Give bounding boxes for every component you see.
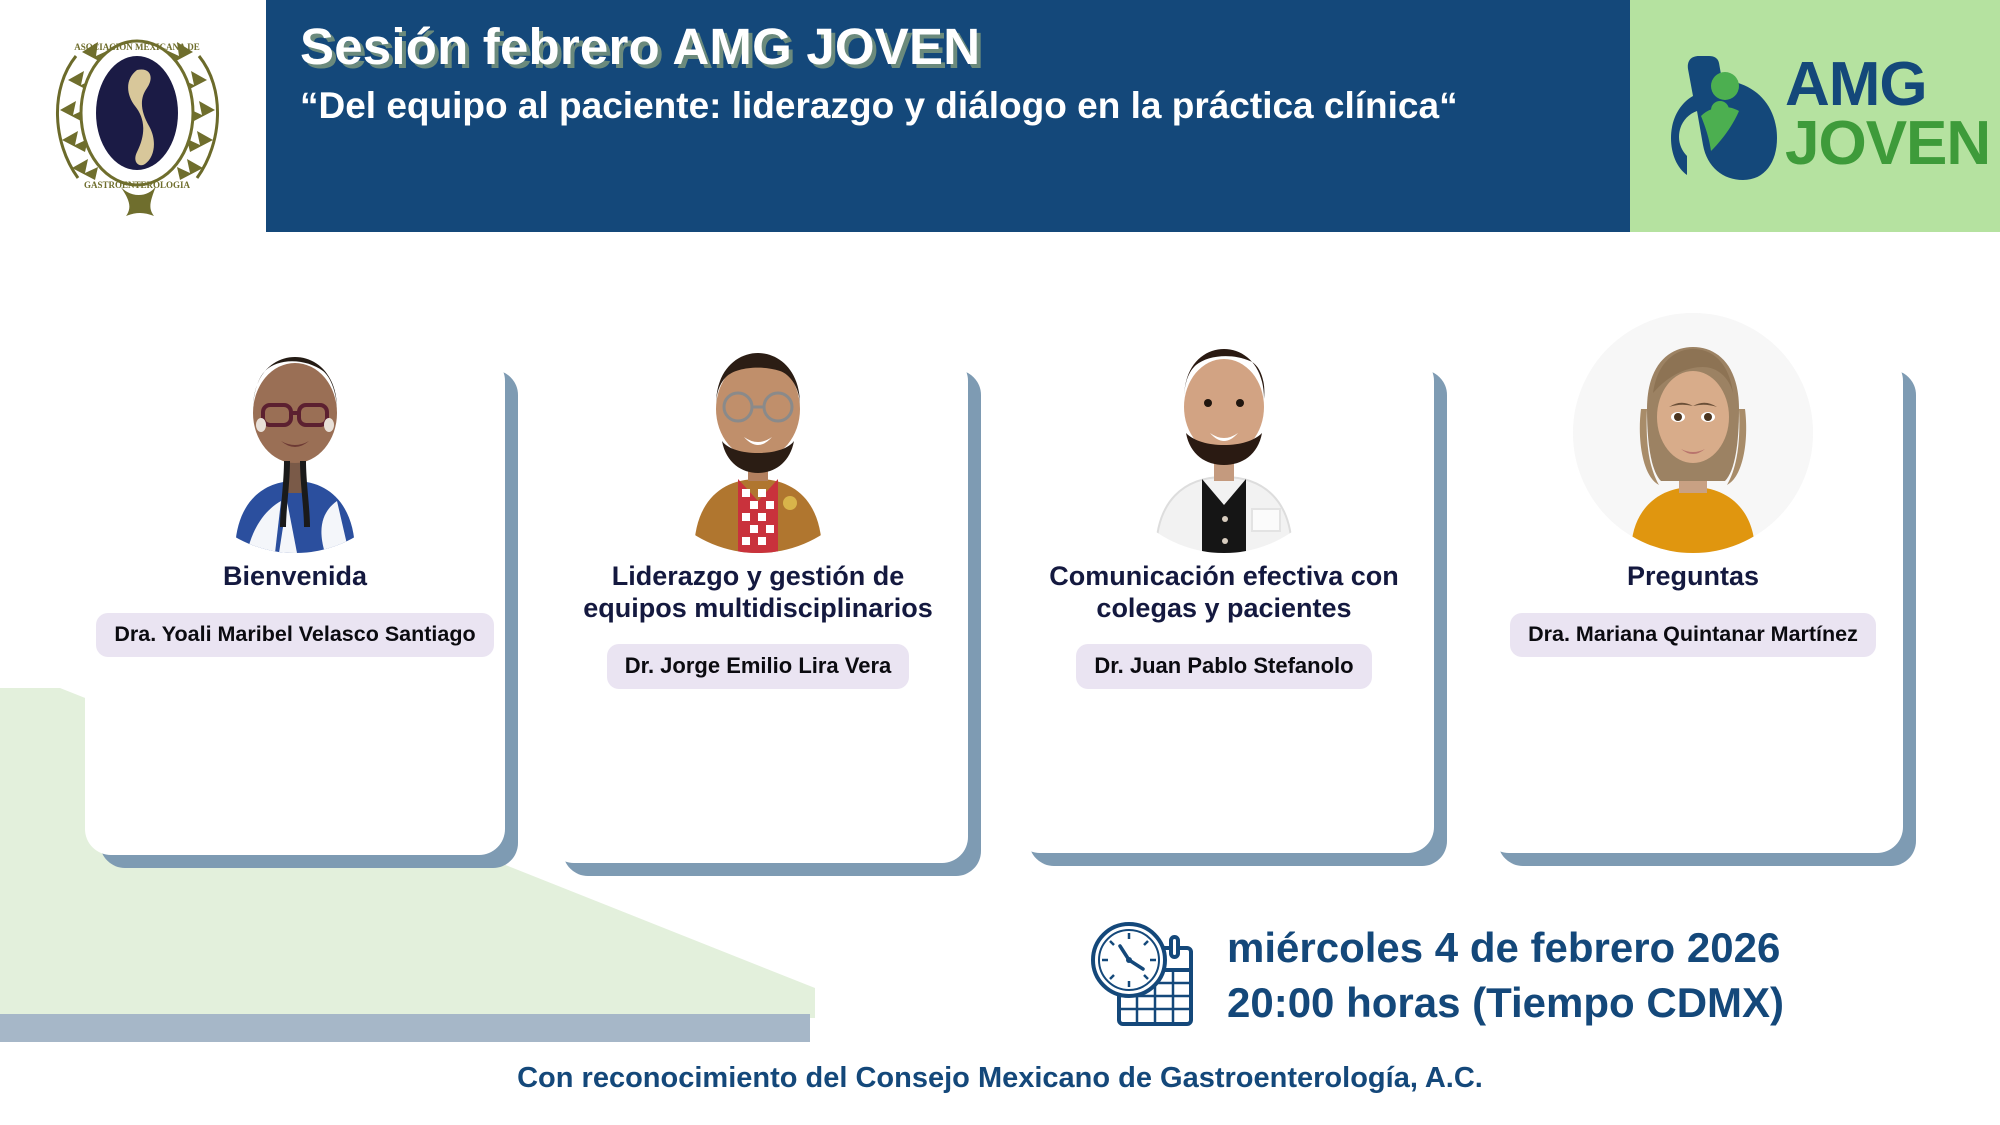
speaker-photo [1069, 313, 1379, 553]
amg-joven-logo: AMG JOVEN [1665, 22, 1985, 207]
speaker-photo [603, 313, 913, 553]
amg-crest-icon: ASOCIACION MEXICANA DE GASTROENTEROLOGIA [30, 10, 245, 222]
avatar [175, 313, 415, 553]
speaker-photo [1538, 313, 1848, 553]
avatar [638, 313, 878, 553]
amg-wordmark-line1: AMG [1785, 56, 1990, 114]
speaker-name-badge: Dra. Mariana Quintanar Martínez [1510, 613, 1876, 657]
clock-calendar-icon [1085, 920, 1203, 1032]
speaker-card[interactable]: Bienvenida Dra. Yoali Maribel Velasco Sa… [85, 355, 505, 855]
header-text-block: Sesión febrero AMG JOVEN “Del equipo al … [300, 18, 1590, 128]
decorative-blue-gray-bar [0, 1014, 810, 1042]
page-title: Sesión febrero AMG JOVEN [300, 18, 1590, 77]
svg-text:GASTROENTEROLOGIA: GASTROENTEROLOGIA [84, 180, 191, 190]
speaker-name-badge: Dr. Jorge Emilio Lira Vera [607, 644, 910, 689]
speaker-role: Liderazgo y gestión de equipos multidisc… [548, 561, 968, 624]
schedule-date: miércoles 4 de febrero 2026 [1227, 924, 1780, 971]
page-subtitle: “Del equipo al paciente: liderazgo y diá… [300, 83, 1550, 128]
schedule-block: miércoles 4 de febrero 2026 20:00 horas … [1085, 920, 1784, 1032]
speaker-name-badge: Dr. Juan Pablo Stefanolo [1076, 644, 1371, 689]
speaker-role: Comunicación efectiva con colegas y paci… [1014, 561, 1434, 624]
speaker-card[interactable]: Liderazgo y gestión de equipos multidisc… [548, 355, 968, 863]
avatar [1104, 313, 1344, 553]
schedule-time: 20:00 horas (Tiempo CDMX) [1227, 979, 1784, 1026]
schedule-text: miércoles 4 de febrero 2026 20:00 horas … [1227, 921, 1784, 1030]
speaker-photo [140, 313, 450, 553]
avatar [1573, 313, 1813, 553]
footer-recognition-note: Con reconocimiento del Consejo Mexicano … [0, 1062, 2000, 1095]
svg-text:ASOCIACION MEXICANA DE: ASOCIACION MEXICANA DE [74, 42, 200, 52]
speaker-cards: Bienvenida Dra. Yoali Maribel Velasco Sa… [0, 355, 2000, 875]
amg-joven-stomach-figure-icon [1665, 50, 1777, 180]
speaker-card[interactable]: Preguntas Dra. Mariana Quintanar Martíne… [1483, 355, 1903, 853]
speaker-name-badge: Dra. Yoali Maribel Velasco Santiago [96, 613, 493, 657]
speaker-card[interactable]: Comunicación efectiva con colegas y paci… [1014, 355, 1434, 853]
speaker-role: Bienvenida [211, 561, 379, 593]
amg-joven-wordmark: AMG JOVEN [1785, 56, 1990, 173]
speaker-role: Preguntas [1615, 561, 1771, 593]
header: ASOCIACION MEXICANA DE GASTROENTEROLOGIA… [0, 0, 2000, 232]
amg-wordmark-line2: JOVEN [1785, 115, 1990, 173]
